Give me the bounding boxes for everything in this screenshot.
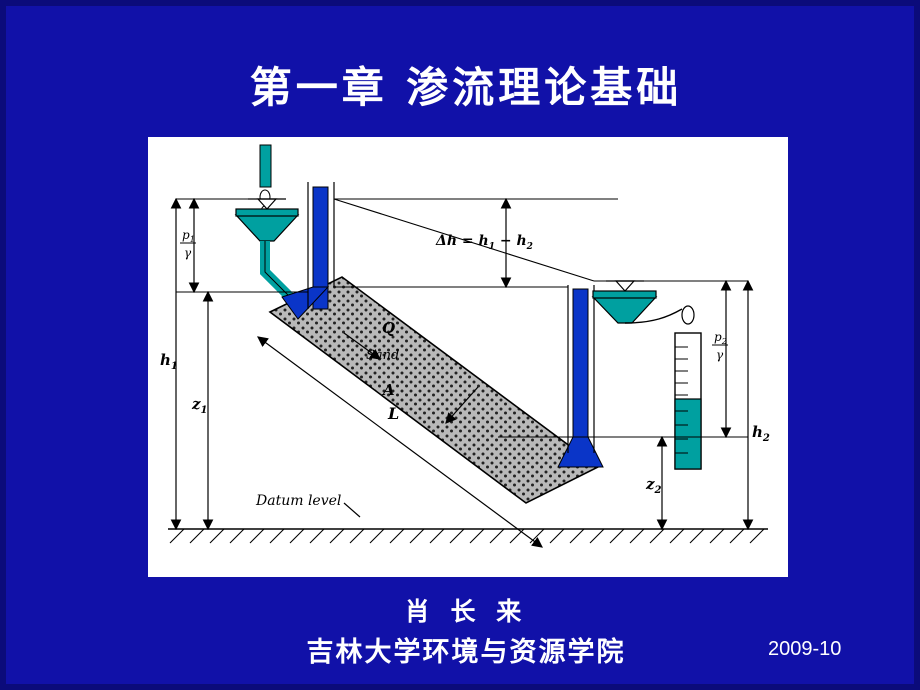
label-datum-level: Datum level xyxy=(255,493,341,509)
slide-date: 2009-10 xyxy=(768,638,841,661)
outlet-funnel-assembly xyxy=(593,281,694,324)
label-sand: Sand xyxy=(366,348,399,363)
label-z2: z2 xyxy=(645,475,662,496)
label-h1: h1 xyxy=(160,351,178,372)
slide-canvas: 第一章 渗流理论基础 xyxy=(0,0,920,690)
label-gamma-2: γ xyxy=(716,348,724,362)
label-delta-h: Δh = h1 − h2 xyxy=(435,233,533,252)
label-area: A xyxy=(381,381,395,399)
graduated-cylinder xyxy=(675,333,701,469)
datum-level xyxy=(168,529,768,543)
label-p2-gamma: p2 xyxy=(714,330,727,346)
label-flow: Q xyxy=(382,319,395,337)
darcy-experiment-figure: p1 γ h1 z1 Δh = h1 − h2 Sand xyxy=(148,137,788,577)
label-h2: h2 xyxy=(752,423,770,444)
label-length: L xyxy=(387,404,399,423)
label-p1-gamma: p1 xyxy=(182,228,195,244)
left-manometer xyxy=(282,182,334,319)
label-gamma-1: γ xyxy=(184,246,192,260)
label-z1: z1 xyxy=(191,395,208,416)
water-supply-assembly xyxy=(236,145,298,305)
right-manometer xyxy=(558,285,603,467)
author-name: 肖 长 来 xyxy=(6,592,920,628)
sand-column xyxy=(270,277,598,503)
page-title: 第一章 渗流理论基础 xyxy=(6,54,920,115)
